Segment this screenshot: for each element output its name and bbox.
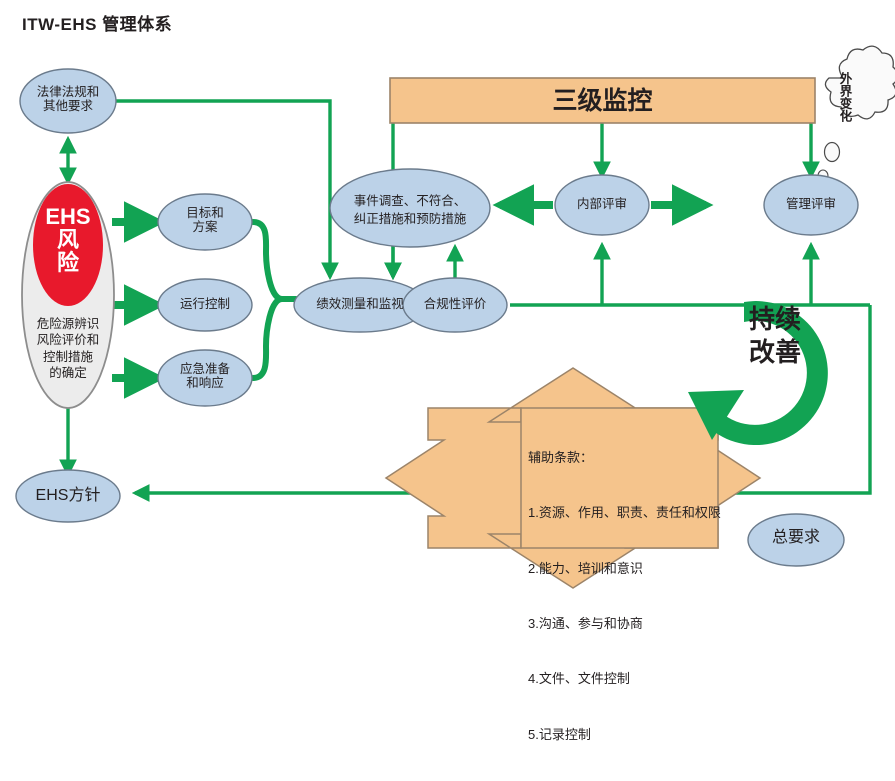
clause-item: 2.能力、培训和意识 <box>528 560 723 578</box>
general-requirements-ellipse <box>748 514 844 566</box>
legal-requirements-ellipse <box>20 69 116 133</box>
external-changes-cloud-shape <box>814 46 895 198</box>
objectives-ellipse <box>158 194 252 250</box>
supporting-clauses-text: 辅助条款： 1.资源、作用、职责、责任和权限 2.能力、培训和意识 3.沟通、参… <box>528 412 723 781</box>
diagram-svg <box>0 0 895 598</box>
incident-ellipse <box>330 169 490 247</box>
ehs-policy-ellipse <box>16 470 120 522</box>
management-review-ellipse <box>764 175 858 235</box>
emergency-ellipse <box>158 350 252 406</box>
internal-audit-ellipse <box>555 175 649 235</box>
clause-item: 1.资源、作用、职责、责任和权限 <box>528 504 723 522</box>
diagram-canvas: ITW-EHS 管理体系 <box>0 0 895 598</box>
operational-control-ellipse <box>158 279 252 331</box>
clause-item: 4.文件、文件控制 <box>528 670 723 688</box>
compliance-ellipse <box>403 278 507 332</box>
three-level-monitoring-box <box>390 78 815 123</box>
clause-item: 3.沟通、参与和协商 <box>528 615 723 633</box>
ehs-risk-core <box>33 184 103 306</box>
clause-item: 5.记录控制 <box>528 726 723 744</box>
